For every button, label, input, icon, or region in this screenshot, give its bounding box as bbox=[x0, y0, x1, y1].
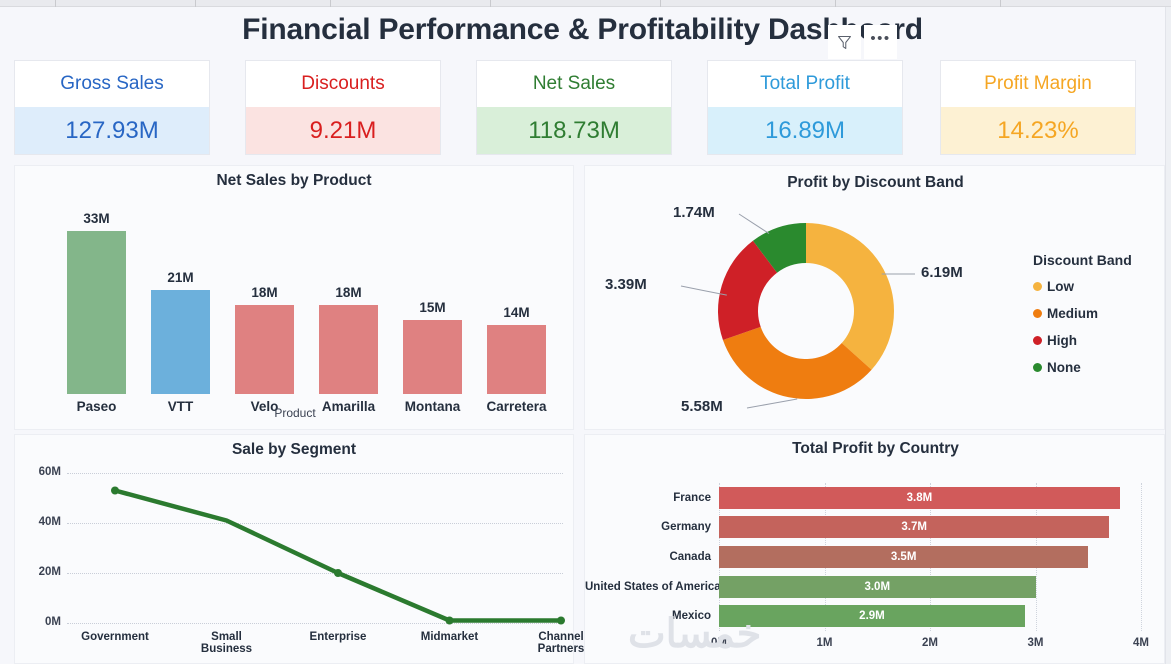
kpi-card-net-sales[interactable]: Net Sales 118.73M bbox=[476, 60, 672, 155]
bar-rect[interactable] bbox=[235, 305, 294, 394]
bar-column[interactable]: 33MPaseo bbox=[67, 194, 126, 394]
x-axis-category-label: Enterprise bbox=[286, 631, 390, 643]
hbar-category-label: France bbox=[585, 492, 711, 504]
report-canvas: Financial Performance & Profitability Da… bbox=[0, 7, 1165, 664]
window-chrome-strip bbox=[0, 0, 1171, 7]
legend-label: Medium bbox=[1047, 306, 1098, 321]
bar-rect[interactable] bbox=[151, 290, 210, 394]
bar-value-label: 33M bbox=[83, 211, 109, 226]
bar-column[interactable]: 18MAmarilla bbox=[319, 194, 378, 394]
panel-profit-by-discount-band[interactable]: Profit by Discount Band 6.19M5.58M3.39M1… bbox=[584, 165, 1165, 430]
kpi-label: Discounts bbox=[246, 61, 440, 107]
x-axis-category-label: Government bbox=[63, 631, 167, 643]
donut-value-label: 3.39M bbox=[605, 276, 647, 293]
canvas-right-edge bbox=[1165, 7, 1171, 664]
kpi-card-discounts[interactable]: Discounts 9.21M bbox=[245, 60, 441, 155]
x-axis-category-label: Midmarket bbox=[398, 631, 502, 643]
chrome-tick bbox=[660, 0, 661, 7]
chrome-tick bbox=[55, 0, 56, 7]
hbar-category-label: Germany bbox=[585, 521, 711, 533]
line-chart-plot-area: 0M20M40M60MGovernmentSmallBusinessEnterp… bbox=[15, 435, 575, 664]
kpi-value: 16.89M bbox=[708, 107, 902, 154]
hbar-category-label: United States of America bbox=[585, 581, 711, 593]
line-data-point[interactable] bbox=[557, 617, 565, 625]
hbar-value-label: 3.0M bbox=[719, 581, 1036, 593]
legend-label: High bbox=[1047, 333, 1077, 348]
bar-value-label: 18M bbox=[251, 285, 277, 300]
bar-value-label: 21M bbox=[167, 270, 193, 285]
kpi-card-profit-margin[interactable]: Profit Margin 14.23% bbox=[940, 60, 1136, 155]
filter-button[interactable] bbox=[828, 25, 861, 59]
donut-chart-plot-area: 6.19M5.58M3.39M1.74M bbox=[585, 166, 1166, 431]
legend-item-high[interactable]: High bbox=[1033, 333, 1077, 348]
legend-item-low[interactable]: Low bbox=[1033, 279, 1074, 294]
kpi-label: Gross Sales bbox=[15, 61, 209, 107]
x-axis-tick-label: 0M bbox=[693, 637, 745, 649]
donut-leader-line bbox=[681, 286, 727, 295]
bar-column[interactable]: 18MVelo bbox=[235, 194, 294, 394]
legend-label: Low bbox=[1047, 279, 1074, 294]
more-options-button[interactable]: ••• bbox=[864, 25, 897, 59]
bar-column[interactable]: 15MMontana bbox=[403, 194, 462, 394]
kpi-card-total-profit[interactable]: Total Profit 16.89M bbox=[707, 60, 903, 155]
donut-leader-line bbox=[747, 399, 797, 408]
legend-item-none[interactable]: None bbox=[1033, 360, 1081, 375]
x-axis-title: Product bbox=[15, 406, 575, 420]
kpi-card-gross-sales[interactable]: Gross Sales 127.93M bbox=[14, 60, 210, 155]
bar-column[interactable]: 21MVTT bbox=[151, 194, 210, 394]
chrome-tick bbox=[490, 0, 491, 7]
hbar-value-label: 3.7M bbox=[719, 521, 1109, 533]
bar-chart-plot-area: 33MPaseo21MVTT18MVelo18MAmarilla15MMonta… bbox=[15, 194, 575, 394]
more-options-icon: ••• bbox=[870, 36, 890, 49]
legend-color-dot bbox=[1033, 336, 1042, 345]
line-data-point[interactable] bbox=[334, 569, 342, 577]
bar-rect[interactable] bbox=[319, 305, 378, 394]
chart-title: Net Sales by Product bbox=[15, 172, 573, 190]
legend-color-dot bbox=[1033, 282, 1042, 291]
kpi-value: 127.93M bbox=[15, 107, 209, 154]
bar-value-label: 18M bbox=[335, 285, 361, 300]
legend-item-medium[interactable]: Medium bbox=[1033, 306, 1098, 321]
line-data-point[interactable] bbox=[446, 617, 454, 625]
panel-sale-by-segment[interactable]: Sale by Segment 0M20M40M60MGovernmentSma… bbox=[14, 434, 574, 664]
line-path[interactable] bbox=[115, 491, 561, 621]
legend-title: Discount Band bbox=[1033, 252, 1132, 268]
bar-column[interactable]: 14MCarretera bbox=[487, 194, 546, 394]
hbar-category-label: Mexico bbox=[585, 610, 711, 622]
donut-value-label: 6.19M bbox=[921, 264, 963, 281]
panel-total-profit-by-country[interactable]: Total Profit by Country 0M1M2M3M4MFrance… bbox=[584, 434, 1165, 664]
page-title: Financial Performance & Profitability Da… bbox=[0, 13, 1165, 47]
bar-value-label: 15M bbox=[419, 300, 445, 315]
legend-color-dot bbox=[1033, 363, 1042, 372]
x-axis-tick-label: 3M bbox=[1010, 637, 1062, 649]
kpi-value: 9.21M bbox=[246, 107, 440, 154]
x-gridline bbox=[1141, 483, 1142, 631]
kpi-label: Total Profit bbox=[708, 61, 902, 107]
bar-rect[interactable] bbox=[487, 325, 546, 394]
donut-value-label: 1.74M bbox=[673, 204, 715, 221]
hbar-value-label: 3.8M bbox=[719, 492, 1120, 504]
legend-color-dot bbox=[1033, 309, 1042, 318]
line-series-svg bbox=[15, 435, 575, 664]
hbar-chart-plot-area: 0M1M2M3M4MFrance3.8MGermany3.7MCanada3.5… bbox=[585, 435, 1166, 664]
donut-value-label: 5.58M bbox=[681, 398, 723, 415]
hbar-value-label: 3.5M bbox=[719, 551, 1088, 563]
kpi-label: Net Sales bbox=[477, 61, 671, 107]
chrome-tick bbox=[330, 0, 331, 7]
bar-rect[interactable] bbox=[67, 231, 126, 394]
x-axis-tick-label: 4M bbox=[1115, 637, 1167, 649]
filter-icon bbox=[836, 34, 853, 51]
chrome-tick bbox=[1000, 0, 1001, 7]
visual-header-tools: ••• bbox=[828, 25, 897, 59]
line-data-point[interactable] bbox=[111, 487, 119, 495]
donut-slice[interactable] bbox=[806, 223, 894, 370]
x-axis-tick-label: 2M bbox=[904, 637, 956, 649]
kpi-value: 118.73M bbox=[477, 107, 671, 154]
chrome-tick bbox=[195, 0, 196, 7]
x-axis-category-label: SmallBusiness bbox=[175, 631, 279, 655]
chrome-tick bbox=[835, 0, 836, 7]
donut-leader-line bbox=[739, 214, 769, 234]
panel-net-sales-by-product[interactable]: Net Sales by Product 33MPaseo21MVTT18MVe… bbox=[14, 165, 574, 430]
dashboard-root: Financial Performance & Profitability Da… bbox=[0, 0, 1171, 664]
hbar-value-label: 2.9M bbox=[719, 610, 1025, 622]
bar-rect[interactable] bbox=[403, 320, 462, 394]
kpi-value: 14.23% bbox=[941, 107, 1135, 154]
bar-value-label: 14M bbox=[503, 305, 529, 320]
hbar-category-label: Canada bbox=[585, 551, 711, 563]
x-axis-tick-label: 1M bbox=[799, 637, 851, 649]
legend-label: None bbox=[1047, 360, 1081, 375]
kpi-row: Gross Sales 127.93M Discounts 9.21M Net … bbox=[0, 60, 1165, 165]
kpi-label: Profit Margin bbox=[941, 61, 1135, 107]
